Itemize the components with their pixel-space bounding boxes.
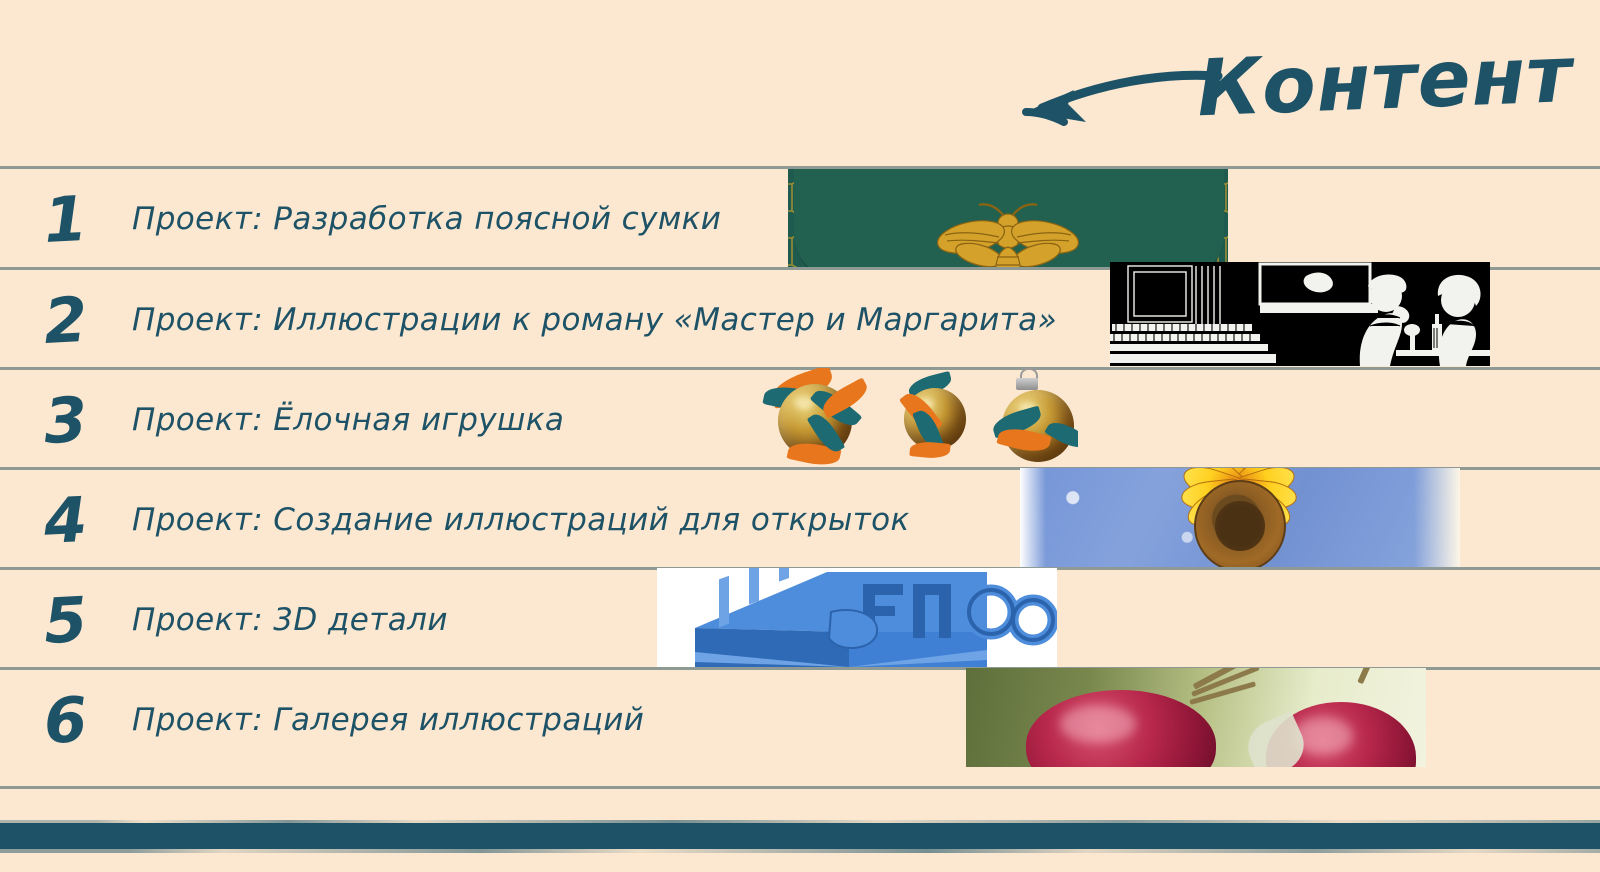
title-block: Контент <box>1012 28 1572 140</box>
list-item-label: Проект: Создание иллюстраций для открыто… <box>132 502 910 538</box>
list-item-6[interactable]: 6 Проект: Галерея иллюстраций <box>0 670 1600 770</box>
list-item-label: Проект: Ёлочная игрушка <box>132 402 564 438</box>
list-item-number: 4 <box>42 487 121 553</box>
page-title: Контент <box>1195 30 1574 134</box>
list-item-number: 2 <box>42 287 121 353</box>
slide-canvas: Контент <box>0 0 1600 872</box>
list-item-number: 1 <box>42 186 121 252</box>
list-item-number: 5 <box>42 587 121 653</box>
list-item-label: Проект: Галерея иллюстраций <box>132 702 644 738</box>
list-item-5[interactable]: 5 Проект: 3D детали <box>0 570 1600 670</box>
list-item-label: Проект: Иллюстрации к роману «Мастер и М… <box>132 302 1057 338</box>
list-item-number: 6 <box>42 687 121 753</box>
list-item-2[interactable]: 2 Проект: Иллюстрации к роману «Мастер и… <box>0 270 1600 370</box>
footer-brush-bar <box>0 823 1600 849</box>
list-item-label: Проект: 3D детали <box>132 602 448 638</box>
list-item-4[interactable]: 4 Проект: Создание иллюстраций для откры… <box>0 470 1600 570</box>
list-item-number: 3 <box>42 387 121 453</box>
list-item-3[interactable]: 3 Проект: Ёлочная игрушка <box>0 370 1600 470</box>
rule-bottom <box>0 786 1600 789</box>
list-item-1[interactable]: 1 Проект: Разработка поясной сумки <box>0 169 1600 269</box>
list-item-label: Проект: Разработка поясной сумки <box>132 201 721 237</box>
